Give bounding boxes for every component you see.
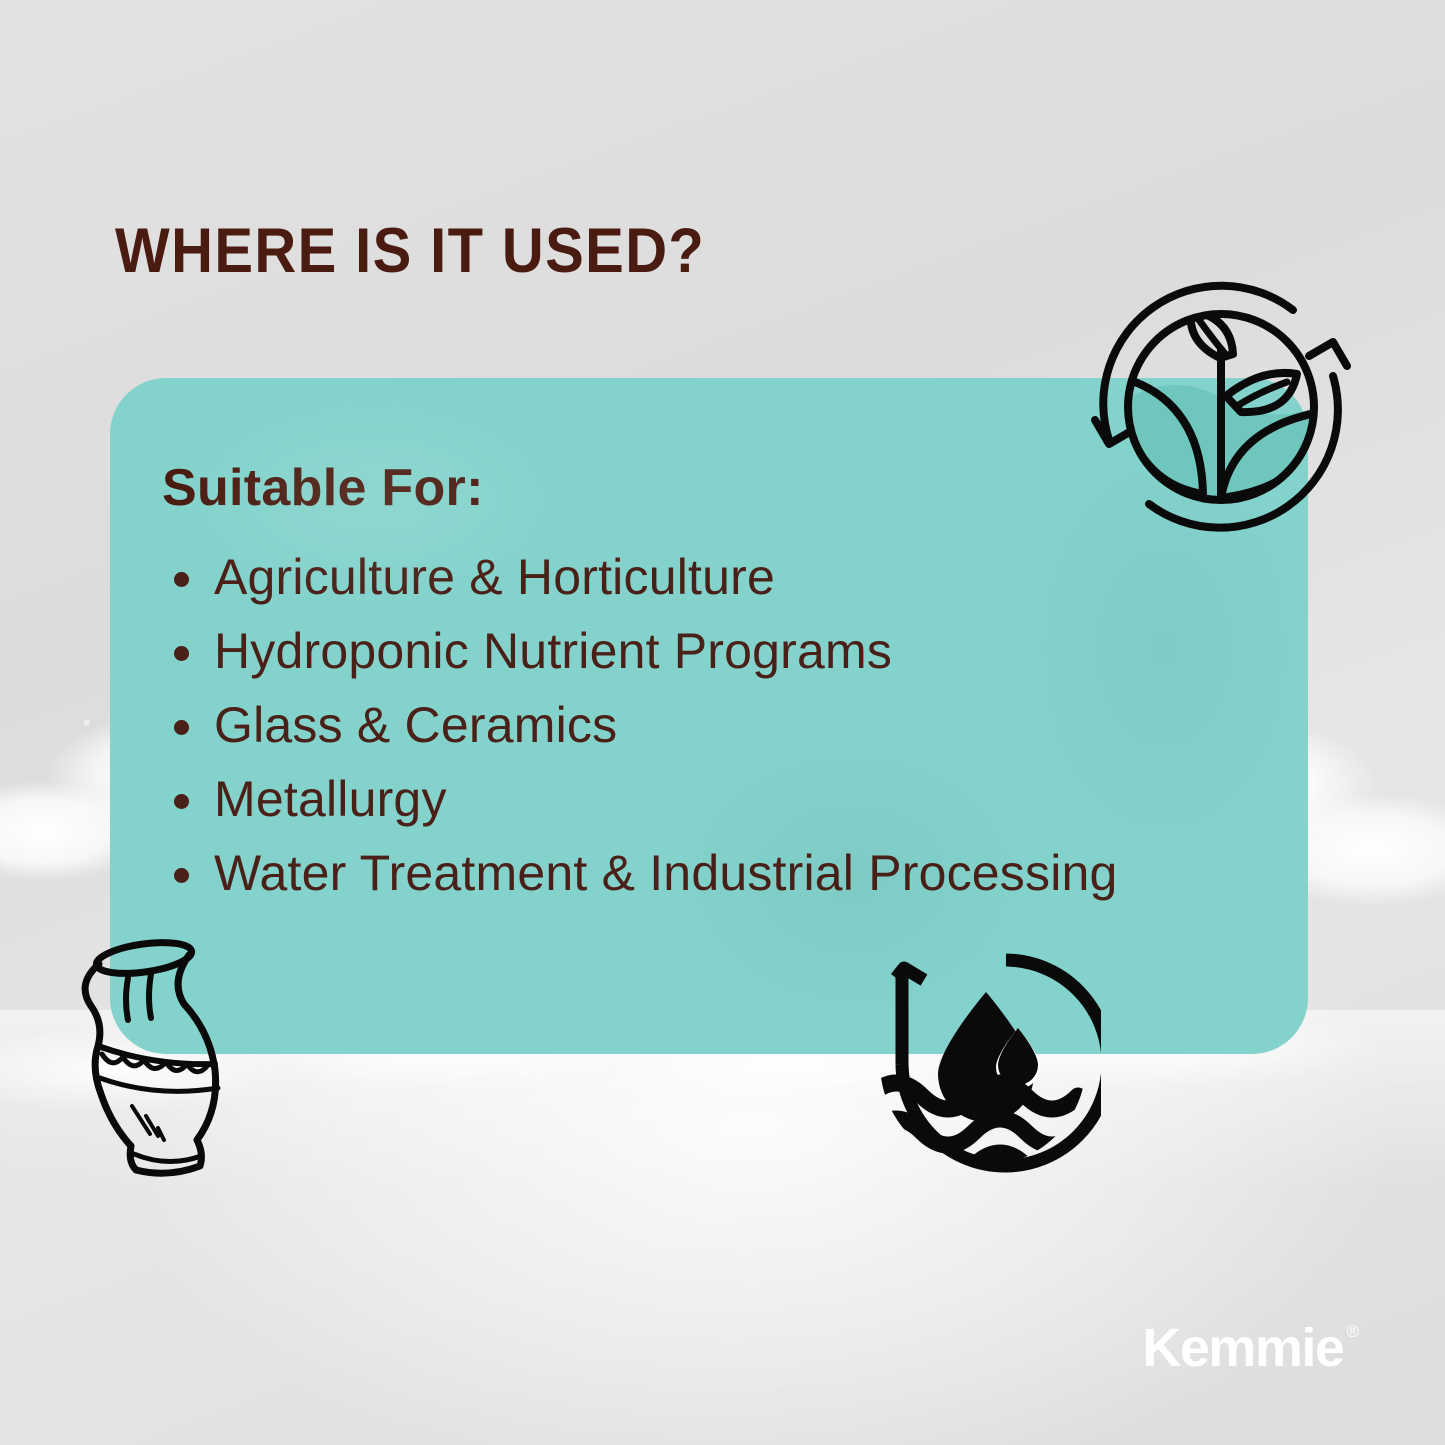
list-item-label: Water Treatment & Industrial Processing: [214, 845, 1118, 901]
list-item-label: Glass & Ceramics: [214, 697, 617, 753]
brand-logo-text: Kemmie: [1142, 1321, 1343, 1375]
list-item: Hydroponic Nutrient Programs: [162, 614, 1278, 688]
list-item: Agriculture & Horticulture: [162, 540, 1278, 614]
recycle-plant-icon: [1081, 272, 1361, 542]
bullet-dot-icon: [174, 720, 189, 735]
brand-logo: Kemmie ®: [1142, 1321, 1359, 1375]
bullet-dot-icon: [174, 572, 189, 587]
list-item-label: Metallurgy: [214, 771, 447, 827]
list-item: Water Treatment & Industrial Processing: [162, 836, 1278, 910]
list-item: Metallurgy: [162, 762, 1278, 836]
list-item-label: Hydroponic Nutrient Programs: [214, 623, 892, 679]
ceramic-vase-icon: [58, 938, 263, 1183]
page-title-line-1: WHERE IS IT USED?: [115, 216, 899, 286]
registered-trademark-icon: ®: [1346, 1321, 1359, 1343]
water-treatment-icon: [866, 944, 1101, 1179]
bullet-dot-icon: [174, 868, 189, 883]
applications-list: Agriculture & Horticulture Hydroponic Nu…: [162, 540, 1278, 910]
list-item: Glass & Ceramics: [162, 688, 1278, 762]
poster-canvas: WHERE IS IT USED? INDUSTRY APPLICATIONS:…: [0, 0, 1445, 1445]
list-item-label: Agriculture & Horticulture: [214, 549, 775, 605]
bullet-dot-icon: [174, 646, 189, 661]
bullet-dot-icon: [174, 794, 189, 809]
